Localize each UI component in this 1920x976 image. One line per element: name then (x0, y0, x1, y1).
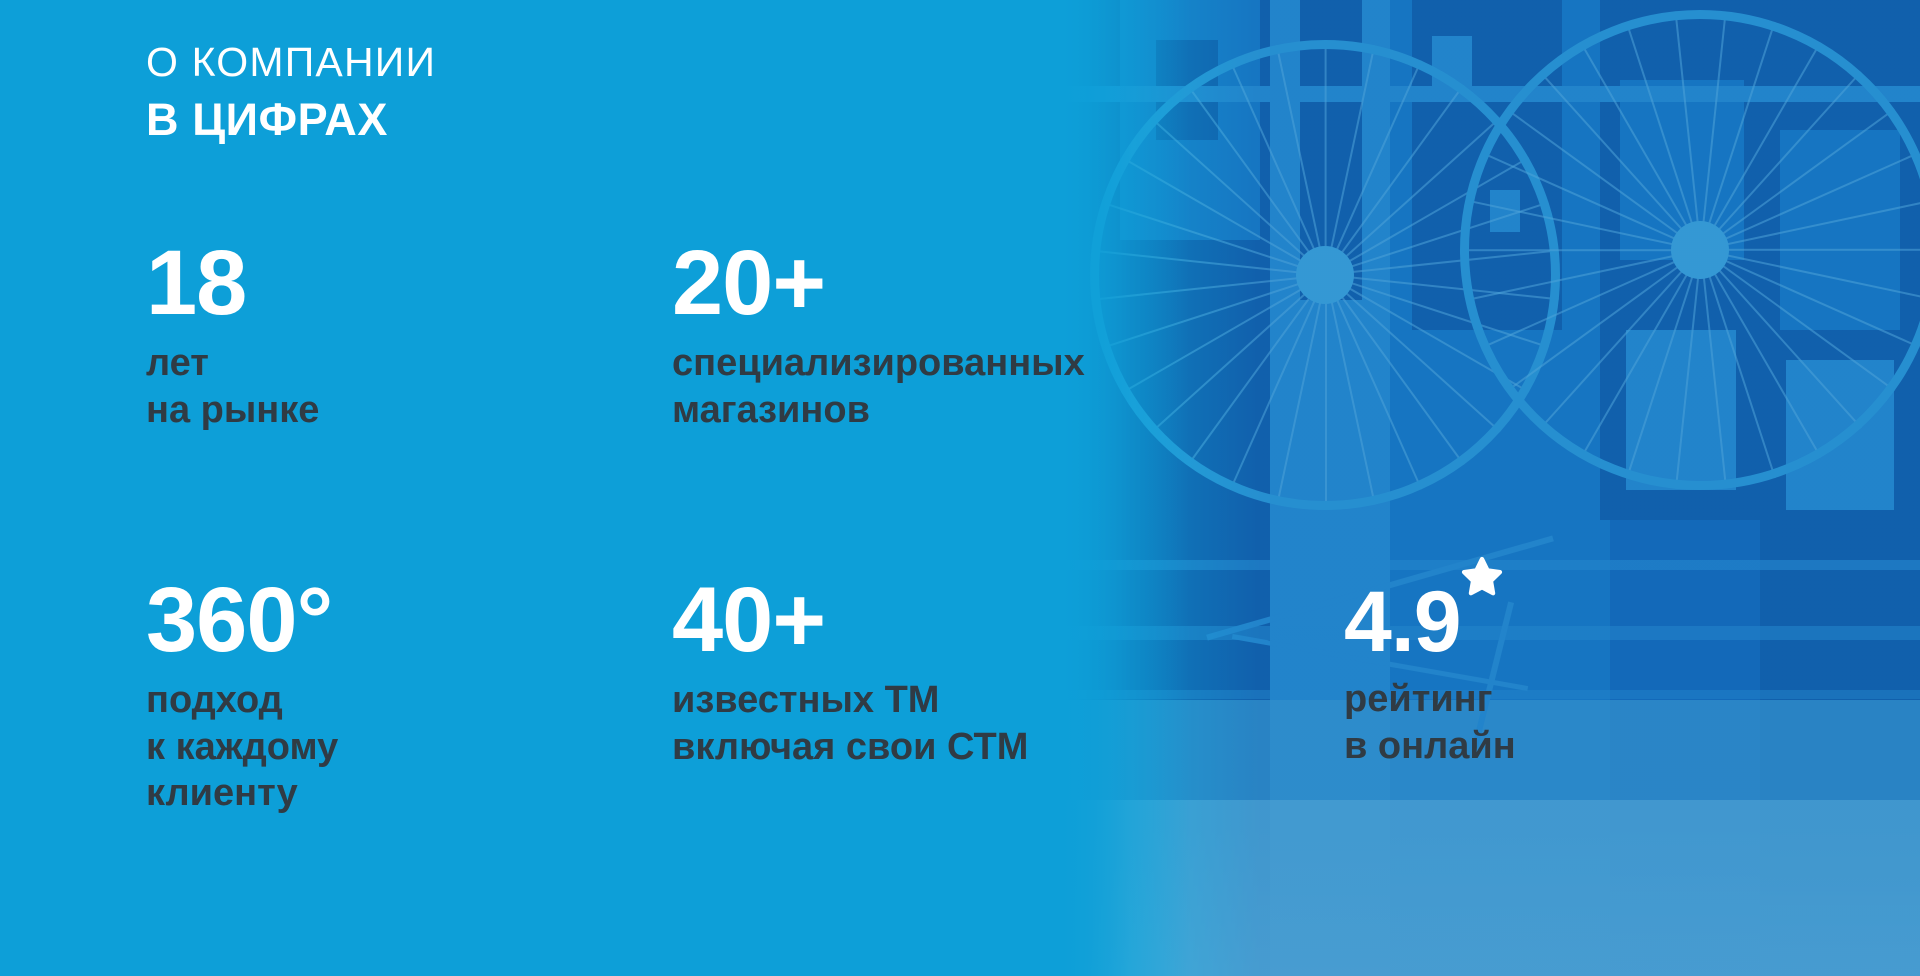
stat-label-line: лет (146, 340, 319, 386)
stat-trademarks: 40+ известных ТМ включая свои СТМ (672, 575, 1028, 770)
stat-number: 18 (146, 238, 246, 328)
stat-online-rating: 4.9 рейтинг в онлайн (1344, 580, 1516, 769)
stat-label-line: подход (146, 677, 338, 723)
stat-label-line: клиенту (146, 770, 338, 816)
stat-label: рейтинг в онлайн (1344, 676, 1516, 769)
stats-grid: 18 лет на рынке 20+ специализированных м… (0, 0, 1920, 976)
slide-content: О КОМПАНИИ В ЦИФРАХ 18 лет на рынке 20+ … (0, 0, 1920, 976)
stat-number-wrapper: 4.9 (1344, 580, 1461, 664)
stat-label-line: на рынке (146, 387, 319, 433)
stat-label: лет на рынке (146, 340, 319, 433)
stat-label-line: включая свои СТМ (672, 724, 1028, 770)
stat-label: известных ТМ включая свои СТМ (672, 677, 1028, 770)
stat-approach: 360° подход к каждому клиенту (146, 575, 338, 816)
stat-label-line: специализированных (672, 340, 1085, 386)
stat-number: 40+ (672, 575, 825, 665)
stat-label-line: рейтинг (1344, 676, 1516, 722)
stat-years-on-market: 18 лет на рынке (146, 238, 319, 433)
stat-label: подход к каждому клиенту (146, 677, 338, 816)
stat-label-line: к каждому (146, 724, 338, 770)
stat-label-line: известных ТМ (672, 677, 1028, 723)
stat-label-line: магазинов (672, 387, 1085, 433)
stat-number: 4.9 (1344, 574, 1461, 670)
slide-root: О КОМПАНИИ В ЦИФРАХ 18 лет на рынке 20+ … (0, 0, 1920, 976)
stat-number: 20+ (672, 238, 825, 328)
stat-label: специализированных магазинов (672, 340, 1085, 433)
stat-specialized-stores: 20+ специализированных магазинов (672, 238, 1085, 433)
stat-number: 360° (146, 575, 332, 665)
star-icon (1459, 554, 1505, 600)
stat-label-line: в онлайн (1344, 723, 1516, 769)
